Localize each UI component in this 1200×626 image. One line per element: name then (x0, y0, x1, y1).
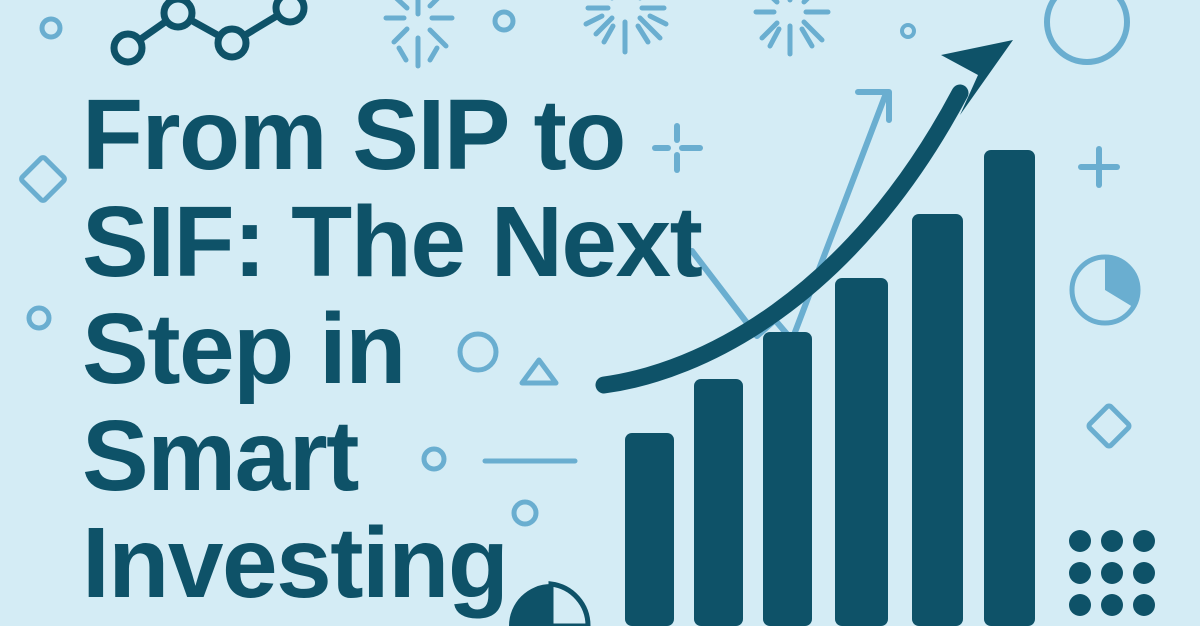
banner-graphic: From SIP to SIF: The Next Step in Smart … (0, 0, 1200, 626)
bar-3 (763, 332, 812, 626)
page-title: From SIP to SIF: The Next Step in Smart … (82, 82, 702, 617)
bar-6 (984, 150, 1035, 626)
bar-4 (835, 278, 888, 626)
bar-5 (912, 214, 963, 626)
